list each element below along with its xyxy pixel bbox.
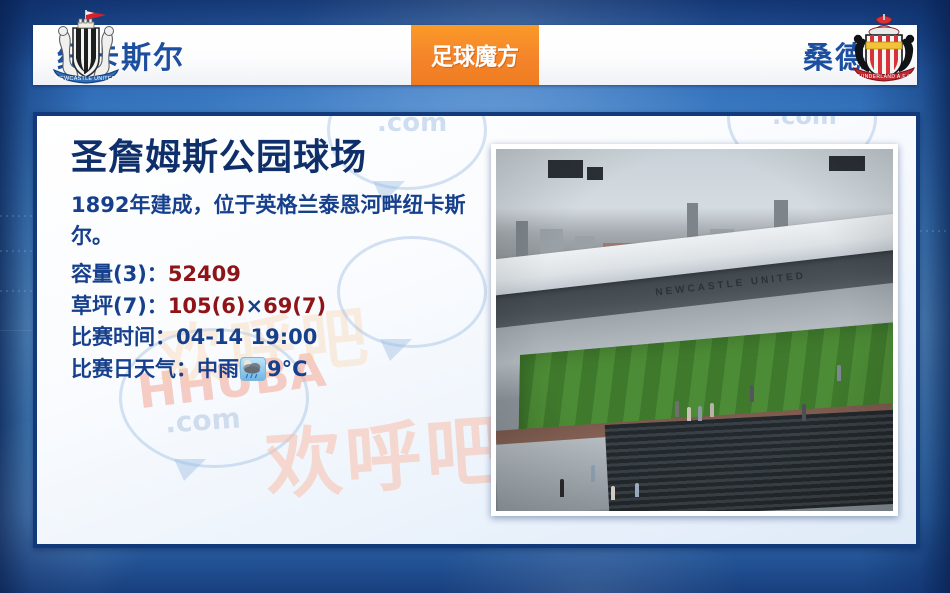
away-team-crest-icon: SUNDERLAND A.F.C xyxy=(846,12,922,86)
pitch-length-value: 105(6) xyxy=(168,294,246,318)
stadium-photo: NEWCASTLE UNITED xyxy=(496,149,893,511)
stadium-info-text: 圣詹姆斯公园球场 1892年建成，位于英格兰泰恩河畔纽卡斯尔。 容量(3)：52… xyxy=(71,138,501,386)
site-logo[interactable]: 足球魔方 xyxy=(411,25,539,85)
watermark-brand-cn: 欢呼吧 xyxy=(261,388,508,514)
pitch-row: 草坪(7)：105(6)×69(7) xyxy=(71,291,501,323)
rain-cloud-icon xyxy=(240,357,266,381)
stadium-description: 1892年建成，位于英格兰泰恩河畔纽卡斯尔。 xyxy=(71,190,501,253)
stadium-title: 圣詹姆斯公园球场 xyxy=(71,138,501,178)
home-team-crest-icon: NEWCASTLE UNITED xyxy=(48,8,124,88)
capacity-value: 52409 xyxy=(168,262,241,286)
match-header-bar: 纽卡斯尔 足球魔方 桑德兰 xyxy=(33,25,917,85)
photo-vignette xyxy=(496,149,893,511)
capacity-row: 容量(3)：52409 xyxy=(71,259,501,291)
weather-label: 比赛日天气： xyxy=(71,357,197,381)
pitch-width-value: 69(7) xyxy=(263,294,326,318)
pitch-separator: × xyxy=(245,294,263,318)
match-time-row: 比赛时间：04-14 19:00 xyxy=(71,322,501,354)
svg-text:SUNDERLAND A.F.C: SUNDERLAND A.F.C xyxy=(857,74,911,80)
match-time-label: 比赛时间： xyxy=(71,325,176,349)
weather-value: 中雨 xyxy=(197,357,239,381)
watermark-right-top-sub: .com xyxy=(772,112,837,130)
watermark-top-sub: .com xyxy=(377,112,447,138)
svg-text:NEWCASTLE UNITED: NEWCASTLE UNITED xyxy=(56,76,116,82)
stadium-photo-frame: NEWCASTLE UNITED xyxy=(491,144,898,516)
watermark-brand-domain: .com xyxy=(164,401,242,439)
pitch-label: 草坪(7)： xyxy=(71,294,168,318)
match-time-value: 04-14 19:00 xyxy=(176,325,317,349)
weather-temperature: 9°C xyxy=(267,357,308,381)
capacity-label: 容量(3)： xyxy=(71,262,168,286)
weather-row: 比赛日天气：中雨 9°C xyxy=(71,354,501,386)
site-logo-text: 足球魔方 xyxy=(431,38,519,72)
stadium-info-panel: .com .com HHUBA .com 欢呼吧 欢呼吧 圣詹姆斯公园球场 18… xyxy=(33,112,920,548)
